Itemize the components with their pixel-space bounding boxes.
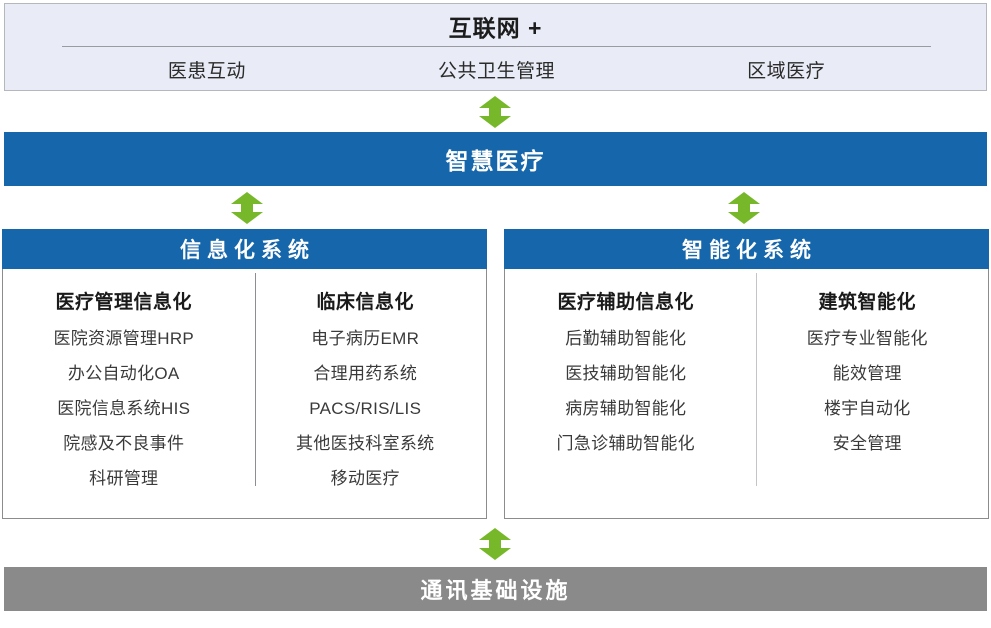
list-item: 病房辅助智能化 — [511, 400, 741, 417]
internet-plus-divider — [62, 46, 931, 47]
infrastructure-band: 通讯基础设施 — [4, 567, 987, 611]
double-arrow-icon-internet-to-smart — [478, 96, 512, 128]
column-building-intelligence: 建筑智能化 医疗专业智能化 能效管理 楼宇自动化 安全管理 — [747, 287, 989, 517]
list-item: 能效管理 — [753, 365, 983, 382]
double-arrow-icon-smart-to-info — [230, 192, 264, 224]
list-item: 医院信息系统HIS — [9, 400, 239, 417]
internet-plus-item-1: 公共卫生管理 — [352, 56, 642, 83]
information-system-column-divider — [255, 273, 256, 486]
list-item: 安全管理 — [753, 435, 983, 452]
information-system-body: 医疗管理信息化 医院资源管理HRP 办公自动化OA 医院信息系统HIS 院感及不… — [3, 269, 486, 517]
column-title: 医疗管理信息化 — [9, 287, 239, 314]
intelligent-system-body: 医疗辅助信息化 后勤辅助智能化 医技辅助智能化 病房辅助智能化 门急诊辅助智能化… — [505, 269, 988, 517]
list-item: 楼宇自动化 — [753, 400, 983, 417]
list-item: 医院资源管理HRP — [9, 330, 239, 347]
column-title: 临床信息化 — [251, 287, 481, 314]
internet-plus-item-0: 医患互动 — [62, 56, 352, 83]
internet-plus-item-list: 医患互动 公共卫生管理 区域医疗 — [62, 56, 931, 83]
column-medical-management-informatization: 医疗管理信息化 医院资源管理HRP 办公自动化OA 医院信息系统HIS 院感及不… — [3, 287, 245, 517]
infrastructure-label: 通讯基础设施 — [420, 573, 570, 605]
smart-medical-band: 智慧医疗 — [4, 132, 987, 186]
list-item: 医疗专业智能化 — [753, 330, 983, 347]
list-item: 移动医疗 — [251, 470, 481, 487]
column-title: 建筑智能化 — [753, 287, 983, 314]
list-item: 电子病历EMR — [251, 330, 481, 347]
internet-plus-panel: 互联网 + 医患互动 公共卫生管理 区域医疗 — [4, 3, 987, 91]
column-medical-assist-informatization: 医疗辅助信息化 后勤辅助智能化 医技辅助智能化 病房辅助智能化 门急诊辅助智能化 — [505, 287, 747, 517]
list-item: 医技辅助智能化 — [511, 365, 741, 382]
list-item: 院感及不良事件 — [9, 435, 239, 452]
internet-plus-item-2: 区域医疗 — [641, 56, 931, 83]
column-title: 医疗辅助信息化 — [511, 287, 741, 314]
information-system-title: 信息化系统 — [174, 234, 315, 264]
internet-plus-title: 互联网 + — [5, 9, 986, 43]
intelligent-system-column-divider — [756, 273, 757, 486]
list-item: 合理用药系统 — [251, 365, 481, 382]
information-system-header: 信息化系统 — [2, 229, 487, 269]
list-item: 门急诊辅助智能化 — [511, 435, 741, 452]
column-clinical-informatization: 临床信息化 电子病历EMR 合理用药系统 PACS/RIS/LIS 其他医技科室… — [245, 287, 487, 517]
double-arrow-icon-systems-to-infrastructure — [478, 528, 512, 560]
intelligent-system-panel: 智能化系统 医疗辅助信息化 后勤辅助智能化 医技辅助智能化 病房辅助智能化 门急… — [504, 229, 989, 519]
intelligent-system-header: 智能化系统 — [504, 229, 989, 269]
double-arrow-icon-smart-to-intelligent — [727, 192, 761, 224]
intelligent-system-title: 智能化系统 — [676, 234, 817, 264]
smart-medical-label: 智慧医疗 — [446, 142, 546, 176]
list-item: 办公自动化OA — [9, 365, 239, 382]
list-item: PACS/RIS/LIS — [251, 400, 481, 417]
list-item: 科研管理 — [9, 470, 239, 487]
information-system-panel: 信息化系统 医疗管理信息化 医院资源管理HRP 办公自动化OA 医院信息系统HI… — [2, 229, 487, 519]
diagram-canvas: 互联网 + 医患互动 公共卫生管理 区域医疗 智慧医疗 信息化系统 — [0, 0, 991, 628]
list-item: 后勤辅助智能化 — [511, 330, 741, 347]
list-item: 其他医技科室系统 — [251, 435, 481, 452]
